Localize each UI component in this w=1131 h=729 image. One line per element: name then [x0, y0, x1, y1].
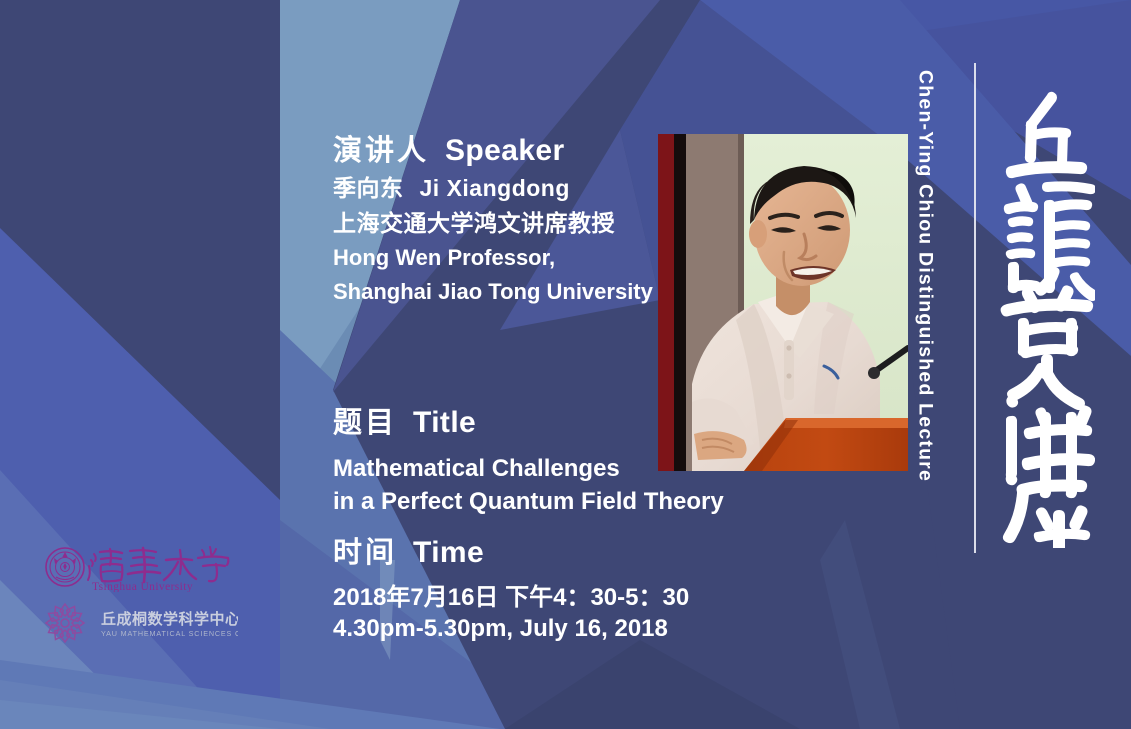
speaker-name-en: Ji Xiangdong	[420, 175, 570, 201]
lecture-title-line1: Mathematical Challenges	[333, 452, 763, 485]
title-heading-en: Title	[413, 406, 476, 439]
speaker-affiliation-en-line1: Hong Wen Professor,	[333, 242, 733, 274]
time-heading: 时间Time	[333, 535, 763, 572]
title-heading-cjk: 题目	[333, 407, 397, 439]
series-vertical-english: Chen-Ying Chiou Distinguished Lecture	[905, 70, 945, 550]
ymsc-logo-en-text: YAU MATHEMATICAL SCIENCES CENTER	[101, 629, 238, 638]
time-block: 时间Time 2018年7月16日 下午4：30-5：30 4.30pm-5.3…	[333, 535, 763, 645]
speaker-block: 演讲人Speaker 季向东Ji Xiangdong 上海交通大学鸿文讲席教授 …	[333, 133, 733, 308]
lecture-poster: 演讲人Speaker 季向东Ji Xiangdong 上海交通大学鸿文讲席教授 …	[0, 0, 1131, 729]
time-line-en: 4.30pm-5.30pm, July 16, 2018	[333, 613, 763, 645]
series-divider-rule	[974, 63, 976, 553]
tsinghua-university-logo: Tsinghua University	[44, 546, 234, 592]
speaker-name-cjk: 季向东	[333, 175, 404, 201]
ymsc-logo: 丘成桐数学科学中心 YAU MATHEMATICAL SCIENCES CENT…	[38, 602, 238, 646]
time-line-cjk: 2018年7月16日 下午4：30-5：30	[333, 582, 763, 614]
speaker-heading: 演讲人Speaker	[333, 133, 733, 170]
poster-content: 演讲人Speaker 季向东Ji Xiangdong 上海交通大学鸿文讲席教授 …	[333, 0, 713, 729]
tsinghua-logo-en-text: Tsinghua University	[92, 581, 193, 592]
series-calligraphy	[995, 78, 1095, 548]
speaker-heading-cjk: 演讲人	[333, 135, 429, 167]
title-heading: 题目Title	[333, 405, 763, 442]
ymsc-logo-cjk-text: 丘成桐数学科学中心	[101, 610, 238, 628]
lecture-title-line2: in a Perfect Quantum Field Theory	[333, 485, 763, 518]
speaker-affiliation-cjk: 上海交通大学鸿文讲席教授	[333, 207, 733, 240]
speaker-affiliation-en-line2: Shanghai Jiao Tong University	[333, 276, 733, 308]
speaker-heading-en: Speaker	[445, 134, 565, 167]
time-heading-cjk: 时间	[333, 537, 397, 569]
title-block: 题目Title Mathematical Challenges in a Per…	[333, 405, 763, 518]
speaker-name: 季向东Ji Xiangdong	[333, 172, 733, 205]
time-heading-en: Time	[413, 536, 484, 569]
